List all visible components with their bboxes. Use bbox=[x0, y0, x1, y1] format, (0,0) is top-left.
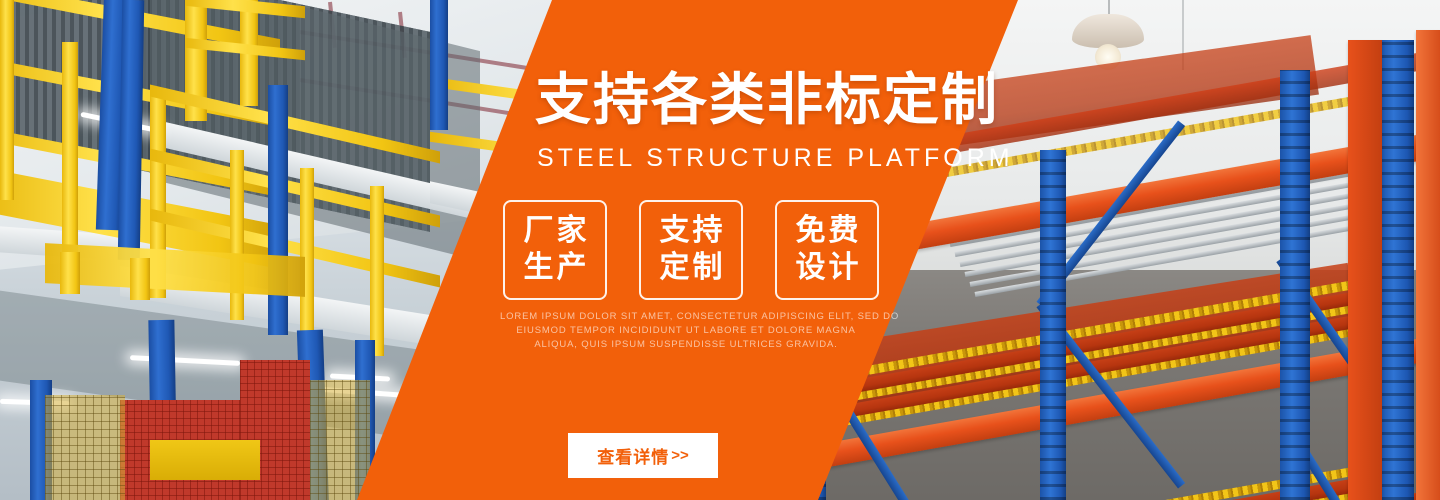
promo-banner: 支持各类非标定制 STEEL STRUCTURE PLATFORM 厂家 生产 … bbox=[0, 0, 1440, 500]
banner-content: 支持各类非标定制 STEEL STRUCTURE PLATFORM 厂家 生产 … bbox=[0, 0, 1440, 500]
feature-badge-group: 厂家 生产 支持 定制 免费 设计 bbox=[503, 200, 879, 300]
feature-badge-manufacturing[interactable]: 厂家 生产 bbox=[503, 200, 607, 300]
badge-line-1: 厂家 bbox=[521, 213, 590, 250]
banner-description: LOREM IPSUM DOLOR SIT AMET, CONSECTETUR … bbox=[500, 310, 872, 352]
feature-badge-customization[interactable]: 支持 定制 bbox=[639, 200, 743, 300]
description-line-1: LOREM IPSUM DOLOR SIT AMET, CONSECTETUR … bbox=[500, 310, 872, 324]
description-line-3: ALIQUA, QUIS IPSUM SUSPENDISSE ULTRICES … bbox=[500, 338, 872, 352]
badge-line-2: 设计 bbox=[793, 250, 862, 287]
cta-label: 查看详情 bbox=[597, 443, 669, 468]
description-line-2: EIUSMOD TEMPOR INCIDIDUNT UT LABORE ET D… bbox=[500, 324, 872, 338]
badge-line-1: 支持 bbox=[657, 213, 726, 250]
chevron-right-icon: >> bbox=[671, 447, 689, 464]
badge-line-1: 免费 bbox=[793, 213, 862, 250]
badge-line-2: 生产 bbox=[521, 250, 590, 287]
view-details-button[interactable]: 查看详情 >> bbox=[568, 433, 718, 478]
banner-subheadline: STEEL STRUCTURE PLATFORM bbox=[537, 146, 1014, 171]
feature-badge-free-design[interactable]: 免费 设计 bbox=[775, 200, 879, 300]
banner-headline: 支持各类非标定制 bbox=[535, 72, 999, 128]
badge-line-2: 定制 bbox=[657, 250, 726, 287]
